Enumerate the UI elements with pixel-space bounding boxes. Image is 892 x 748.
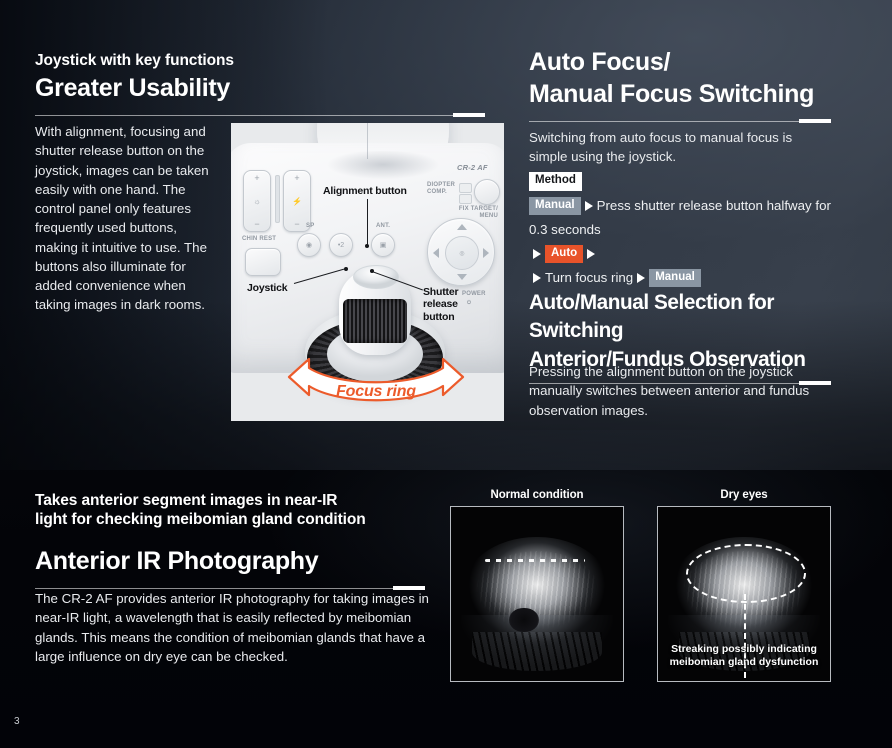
joystick-control-panel-photo: + ☼ − + ⚡ − CHIN REST SP ◉ •2 ANT. ▣ CR-… <box>231 123 504 421</box>
pupil-shadow <box>509 608 538 632</box>
hood-shadow <box>305 151 461 185</box>
method-instructions: Method ManualPress shutter release butto… <box>529 172 834 290</box>
ir-kicker-line1: Takes anterior segment images in near-IR <box>35 491 435 510</box>
dpad-up-icon[interactable] <box>457 224 467 230</box>
diopter-comp-dial[interactable] <box>474 179 500 205</box>
ir-paragraph: The CR-2 AF provides anterior IR photogr… <box>35 589 435 666</box>
autofocus-heading-line2: Manual Focus Switching <box>529 78 831 110</box>
ir-kicker-line2: light for checking meibomian gland condi… <box>35 510 435 529</box>
ir-section-header: Anterior IR Photography <box>35 547 425 591</box>
badge-manual-start: Manual <box>529 197 581 216</box>
selection-paragraph: Pressing the alignment button on the joy… <box>529 362 831 420</box>
leader-line-alignment <box>367 199 368 245</box>
usability-kicker: Joystick with key functions <box>35 51 288 70</box>
ir-kicker-block: Takes anterior segment images in near-IR… <box>35 491 435 530</box>
usability-rule <box>35 113 485 118</box>
eyelashes <box>472 632 603 670</box>
method-step-line-2: Auto <box>529 242 834 266</box>
dpad-center-button[interactable]: ◎ <box>445 236 479 270</box>
arrow-icon-3 <box>587 249 595 259</box>
diopter-minus-button[interactable] <box>459 194 472 204</box>
focus-ring-arrow-banner: Focus ring <box>281 355 471 417</box>
autofocus-section-header: Auto Focus/ Manual Focus Switching <box>529 46 831 124</box>
chin-rest-label: CHIN REST <box>242 236 276 242</box>
method-step-line-1: ManualPress shutter release button halfw… <box>529 194 834 242</box>
panel-slider[interactable] <box>275 175 280 223</box>
usability-section-header: Joystick with key functions Greater Usab… <box>35 51 288 118</box>
ir-image-dry-eyes: Streaking possibly indicating meibomian … <box>657 506 831 682</box>
diopter-plus-button[interactable] <box>459 183 472 193</box>
brightness-button-pair[interactable]: + ☼ − <box>243 170 271 232</box>
method-step2-text: Turn focus ring <box>545 270 633 285</box>
navigation-dpad[interactable]: ◎ <box>427 218 495 286</box>
diopter-comp-label: DIOPTER COMP. <box>427 182 455 196</box>
dpad-right-icon[interactable] <box>483 248 489 258</box>
anterior-button[interactable]: ▣ <box>371 233 395 257</box>
small-pupil-button[interactable]: •2 <box>329 233 353 257</box>
ant-label: ANT. <box>376 223 390 229</box>
autofocus-rule <box>529 119 831 124</box>
sp-label: SP <box>306 223 314 229</box>
caption-dry-eyes: Dry eyes <box>657 489 831 501</box>
callout-joystick: Joystick <box>247 283 287 295</box>
sp-button[interactable]: ◉ <box>297 233 321 257</box>
power-sub-label: ⏻ <box>467 300 471 306</box>
dpad-down-icon[interactable] <box>457 274 467 280</box>
dpad-left-icon[interactable] <box>433 248 439 258</box>
leader-dot-shutter <box>370 269 374 273</box>
selection-heading-line1: Auto/Manual Selection for Switching <box>529 288 820 345</box>
page-content: Joystick with key functions Greater Usab… <box>0 0 892 748</box>
panel-seam <box>367 123 368 159</box>
autofocus-heading-line1: Auto Focus/ <box>529 46 831 78</box>
arrow-icon-4 <box>533 273 541 283</box>
shutter-release-button[interactable] <box>353 265 399 289</box>
callout-focus-ring: Focus ring <box>281 383 471 401</box>
arrow-icon-2 <box>533 249 541 259</box>
usability-heading: Greater Usability <box>35 74 288 104</box>
badge-auto: Auto <box>545 245 583 264</box>
leader-dot-joystick <box>344 267 348 271</box>
specular-highlight <box>485 559 585 562</box>
page-number: 3 <box>14 716 20 727</box>
autofocus-paragraph: Switching from auto focus to manual focu… <box>529 128 831 167</box>
model-name-label: CR-2 AF <box>457 163 488 172</box>
ir-heading: Anterior IR Photography <box>35 547 425 577</box>
usability-paragraph: With alignment, focusing and shutter rel… <box>35 122 215 315</box>
annotation-caption: Streaking possibly indicating meibomian … <box>664 643 824 669</box>
power-label: POWER <box>462 291 486 297</box>
chin-rest-button[interactable] <box>245 248 281 276</box>
callout-shutter-release: Shutter release button <box>423 286 458 323</box>
callout-alignment-button: Alignment button <box>323 186 407 198</box>
method-label-badge: Method <box>529 172 582 191</box>
method-step-line-3: Turn focus ringManual <box>529 266 834 290</box>
joystick-grip[interactable] <box>343 299 407 343</box>
arrow-icon-5 <box>637 273 645 283</box>
badge-manual-end: Manual <box>649 269 701 288</box>
ir-image-normal <box>450 506 624 682</box>
arrow-icon-1 <box>585 201 593 211</box>
caption-normal-condition: Normal condition <box>450 489 624 501</box>
leader-dot-alignment <box>365 244 369 248</box>
